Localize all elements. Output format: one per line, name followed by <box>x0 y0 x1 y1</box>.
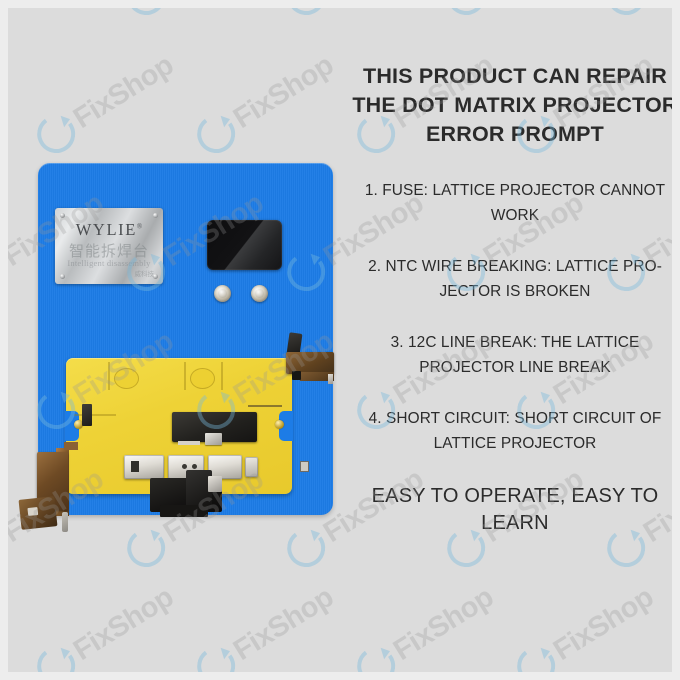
brand-nameplate: WYLIE® 智能拆焊台 Intelligent disassembly 威科技 <box>55 208 163 284</box>
copper-flex-tab <box>64 442 78 450</box>
brand-name: WYLIE® <box>55 220 163 240</box>
fixture-groove <box>74 414 116 416</box>
connector-port <box>182 464 187 469</box>
fault-item-3: 3. 12C LINE BREAK: THE LATTICE PROJECTOR… <box>352 331 678 381</box>
board-connector <box>245 457 258 477</box>
right-flex-chip <box>292 371 301 380</box>
right-flex-pin <box>328 374 333 384</box>
trademark-symbol: ® <box>137 223 142 231</box>
brand-name-text: WYLIE <box>76 220 137 239</box>
refresh-circle-icon <box>515 645 558 680</box>
fixture-hole <box>190 368 215 389</box>
fixture-groove <box>108 362 110 390</box>
product-image: WYLIE® 智能拆焊台 Intelligent disassembly 威科技 <box>0 0 680 680</box>
flex-cable-tip <box>62 512 68 532</box>
nameplate-screw <box>60 274 65 279</box>
nameplate-english-text: Intelligent disassembly <box>55 258 163 268</box>
copper-flex-connector <box>19 496 58 530</box>
device-photo: WYLIE® 智能拆焊台 Intelligent disassembly 威科技 <box>0 0 352 680</box>
tagline: EASY TO OPERATE, EASY TO LEARN <box>352 483 678 538</box>
nameplate-sub-text: 威科技 <box>135 268 155 278</box>
connector-contact <box>300 461 309 472</box>
fault-item-2: 2. NTC WIRE BREAKING: LATTICE PRO-JECTOR… <box>352 255 678 305</box>
logic-board-pad <box>178 441 200 445</box>
connector-contact <box>131 461 139 472</box>
fixture-brass-screw[interactable] <box>275 420 284 429</box>
watermark: FixShop <box>600 0 680 22</box>
fault-item-1: 1. FUSE: LATTICE PROJECTOR CANNOT WORK <box>352 179 678 229</box>
fault-item-4: 4. SHORT CIRCUIT: SHORT CIRCUIT OF LATTI… <box>352 407 678 457</box>
connector-port <box>192 464 197 469</box>
control-knob-left[interactable] <box>214 285 231 302</box>
black-flex-cable <box>160 505 208 517</box>
logic-board-chip <box>82 404 92 426</box>
fixture-groove <box>248 405 282 407</box>
fixture-groove <box>221 362 223 390</box>
refresh-circle-icon <box>605 0 648 18</box>
watermark-label: FixShop <box>548 581 660 668</box>
fixture-hole <box>114 368 139 389</box>
marketing-copy: THIS PRODUCT CAN REPAIR THE DOT MATRIX P… <box>352 62 678 538</box>
refresh-circle-icon <box>355 645 398 680</box>
watermark: FixShop <box>510 578 661 680</box>
nameplate-screw <box>153 213 158 218</box>
nameplate-screw <box>60 213 65 218</box>
watermark: FixShop <box>350 578 501 680</box>
watermark: FixShop <box>440 0 591 22</box>
refresh-circle-icon <box>445 0 488 18</box>
watermark: FixShop <box>670 578 680 680</box>
logic-board-connector <box>205 433 222 445</box>
refresh-circle-icon <box>675 645 680 680</box>
fixture-groove <box>184 362 186 390</box>
board-connector <box>124 455 164 479</box>
device-display-screen <box>207 220 282 270</box>
page-title: THIS PRODUCT CAN REPAIR THE DOT MATRIX P… <box>352 62 678 149</box>
watermark-label: FixShop <box>388 581 500 668</box>
control-knob-right[interactable] <box>251 285 268 302</box>
flex-cable-shield <box>208 476 222 492</box>
